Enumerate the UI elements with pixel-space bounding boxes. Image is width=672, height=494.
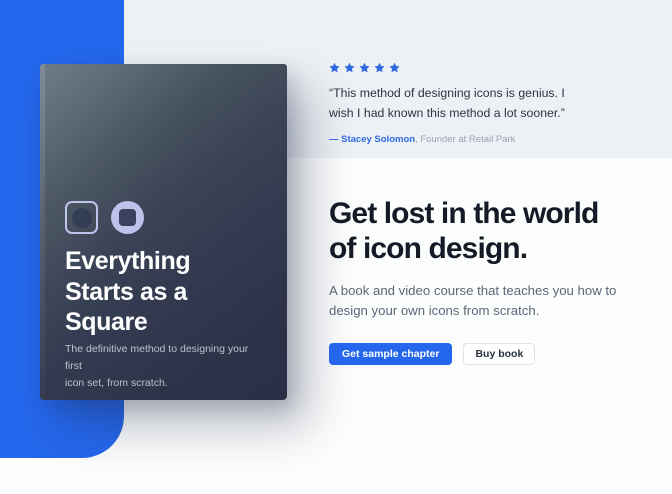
circle-shape — [72, 208, 92, 228]
landing-page: Everything Starts as a Square The defini… — [0, 0, 672, 494]
star-rating — [329, 62, 619, 73]
book-cover-icons — [65, 201, 144, 234]
testimonial-quote: “This method of designing icons is geniu… — [329, 84, 567, 124]
star-icon — [359, 62, 370, 73]
star-icon — [329, 62, 340, 73]
hero-subtitle: A book and video course that teaches you… — [329, 281, 629, 322]
testimonial-attribution: — Stacey Solomon, Founder at Retail Park — [329, 133, 619, 146]
square-with-circle-icon — [65, 201, 98, 234]
testimonial-author: — Stacey Solomon — [329, 134, 415, 145]
buy-book-button[interactable]: Buy book — [463, 343, 535, 365]
circle-with-square-icon — [111, 201, 144, 234]
star-icon — [374, 62, 385, 73]
book-cover: Everything Starts as a Square The defini… — [40, 64, 287, 400]
star-icon — [389, 62, 400, 73]
hero-section: Get lost in the world of icon design. A … — [329, 197, 649, 365]
book-spine — [40, 64, 45, 400]
book-title: Everything Starts as a Square — [65, 246, 260, 338]
testimonial: “This method of designing icons is geniu… — [329, 62, 619, 146]
testimonial-role: , Founder at Retail Park — [415, 134, 515, 145]
page-title: Get lost in the world of icon design. — [329, 197, 649, 267]
square-shape — [119, 209, 136, 226]
book-tagline: The definitive method to designing your … — [65, 341, 265, 391]
star-icon — [344, 62, 355, 73]
hero-actions: Get sample chapter Buy book — [329, 343, 649, 365]
get-sample-chapter-button[interactable]: Get sample chapter — [329, 343, 452, 365]
